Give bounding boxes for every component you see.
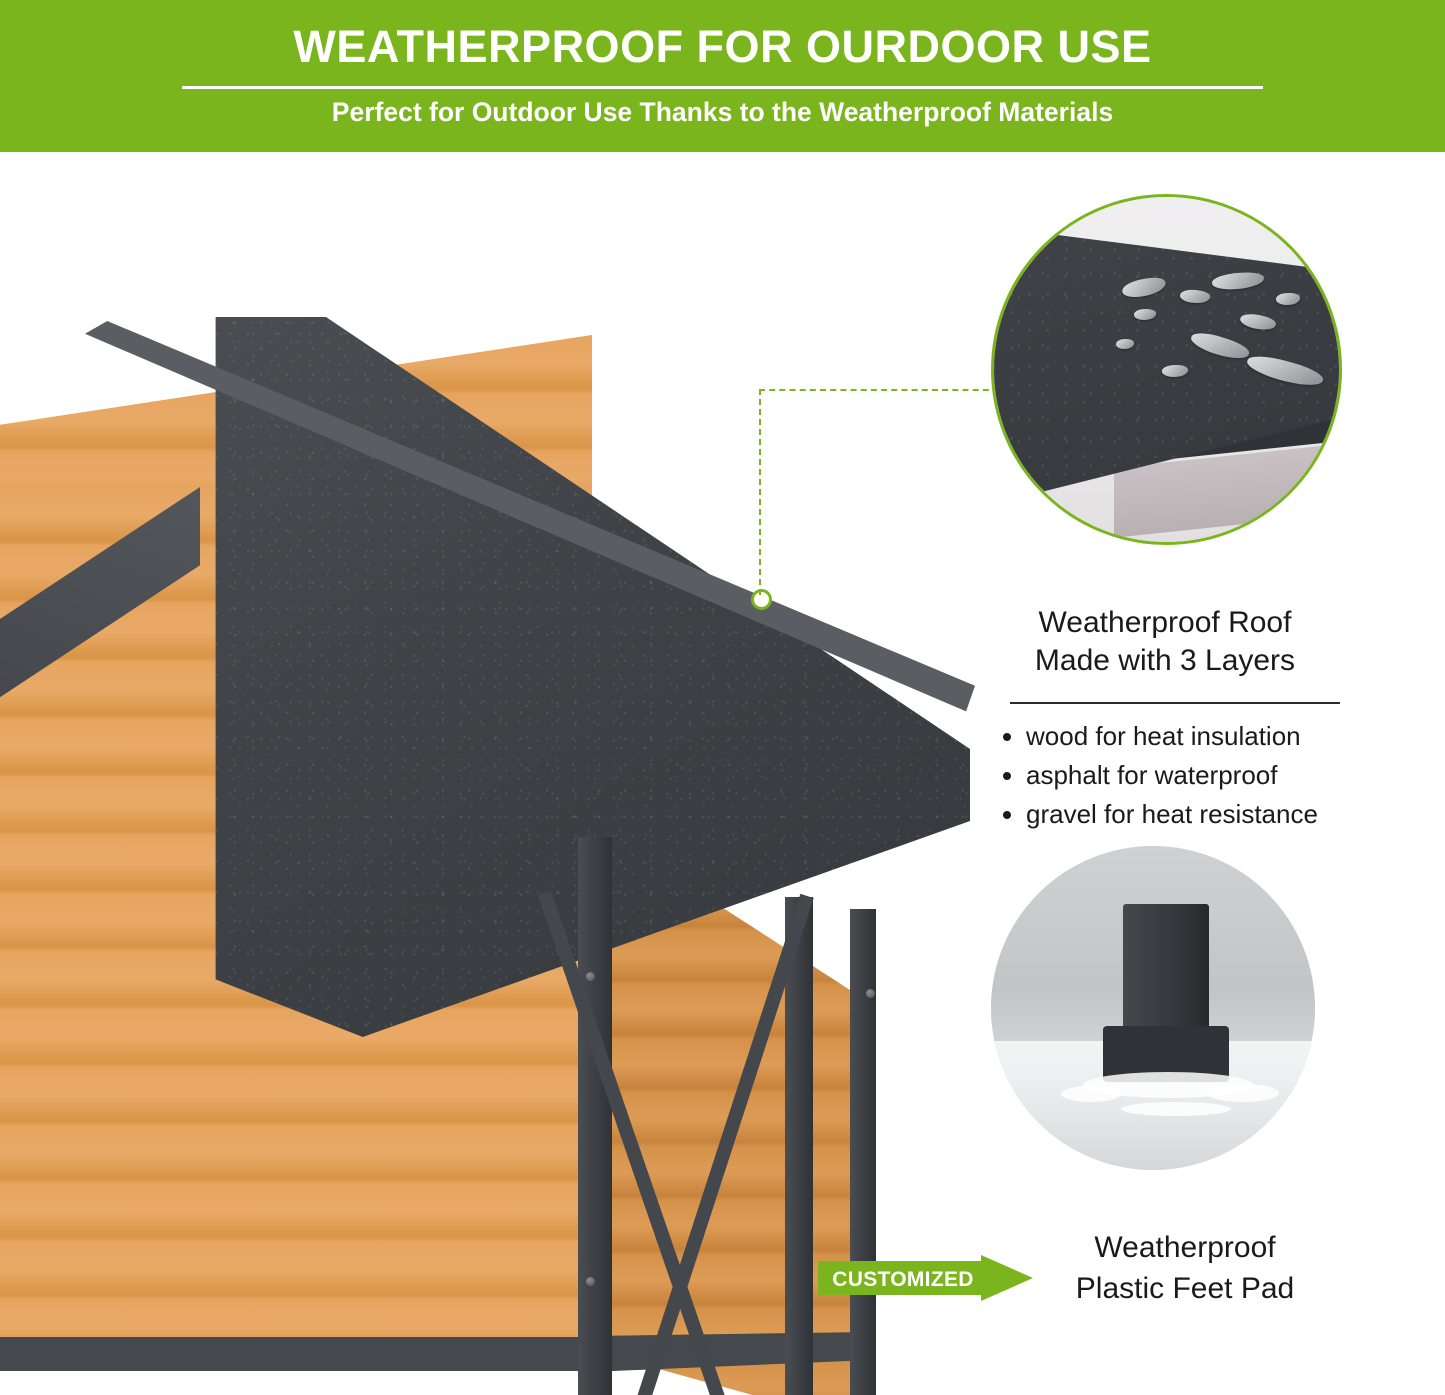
base-slab-front: [0, 1337, 595, 1371]
customized-label: CUSTOMIZED: [828, 1268, 978, 1292]
water-splash-4: [1121, 1102, 1231, 1116]
feet-pad-closeup-image: [991, 846, 1315, 1170]
roof-heading-line-1: Weatherproof Roof: [985, 604, 1345, 642]
roof-closeup-image: [991, 194, 1342, 545]
product-photo-area: Weatherproof Roof Made with 3 Layers woo…: [0, 152, 1445, 1395]
water-splash-2: [1061, 1086, 1121, 1102]
roof-callout-heading: Weatherproof Roof Made with 3 Layers: [985, 604, 1345, 680]
list-item: asphalt for waterproof: [1026, 757, 1400, 794]
screw-1: [586, 972, 595, 981]
list-item: wood for heat insulation: [1026, 718, 1400, 755]
screw-3: [866, 989, 875, 998]
frame-post-rear: [850, 909, 876, 1395]
frame-post-front-left: [578, 837, 612, 1395]
list-item: gravel for heat resistance: [1026, 796, 1400, 833]
callout-leader-horizontal: [759, 389, 999, 391]
feet-heading-line-2: Plastic Feet Pad: [1000, 1268, 1370, 1309]
roof-feature-list: wood for heat insulation asphalt for wat…: [1000, 718, 1400, 835]
callout-leader-vertical: [759, 389, 761, 595]
feet-callout-heading: Weatherproof Plastic Feet Pad: [1000, 1227, 1370, 1309]
callout-anchor-dot: [751, 589, 772, 610]
water-splash-3: [1207, 1084, 1279, 1102]
feet-closeup-post: [1123, 904, 1209, 1036]
header-banner: WEATHERPROOF FOR OURDOOR USE Perfect for…: [0, 0, 1445, 152]
screw-2: [586, 1277, 595, 1286]
banner-title: WEATHERPROOF FOR OURDOOR USE: [0, 24, 1445, 69]
roof-heading-line-2: Made with 3 Layers: [985, 642, 1345, 680]
roof-text-divider: [1010, 702, 1340, 704]
banner-subtitle: Perfect for Outdoor Use Thanks to the We…: [0, 99, 1445, 126]
dog-house-illustration: [0, 237, 990, 1395]
banner-divider: [182, 86, 1263, 89]
feet-heading-line-1: Weatherproof: [1000, 1227, 1370, 1268]
